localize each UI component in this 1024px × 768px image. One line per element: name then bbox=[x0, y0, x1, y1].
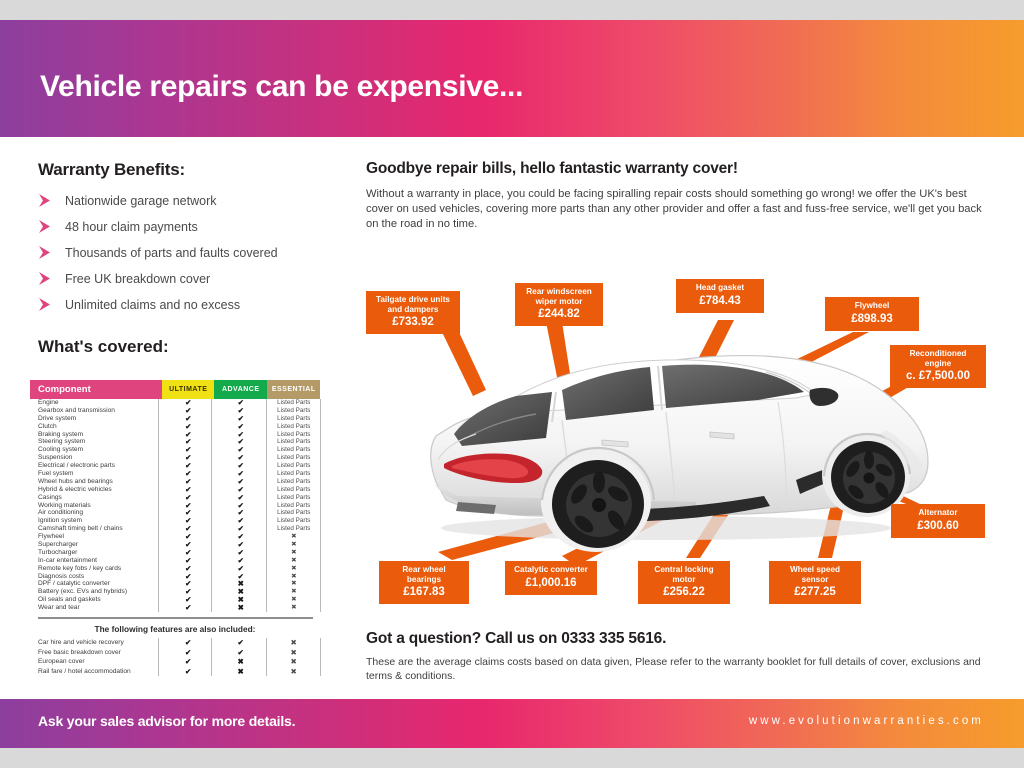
table-row: Steering system✔✔Listed Parts bbox=[30, 438, 320, 446]
table-header-row: Component ULTIMATE ADVANCE ESSENTIAL bbox=[30, 380, 320, 399]
component-name: Ignition system bbox=[30, 517, 162, 525]
coverage-cell-ultimate: ✔ bbox=[162, 604, 214, 612]
table-row: Turbocharger✔✔✖ bbox=[30, 549, 320, 557]
coverage-cell-essential: Listed Parts bbox=[267, 415, 320, 423]
table-row: Suspension✔✔Listed Parts bbox=[30, 454, 320, 462]
page-title: Vehicle repairs can be expensive... bbox=[40, 70, 523, 104]
table-row: Fuel system✔✔Listed Parts bbox=[30, 470, 320, 478]
component-name: Diagnosis costs bbox=[30, 573, 162, 581]
table-row: Diagnosis costs✔✔✖ bbox=[30, 573, 320, 581]
coverage-cell-essential: Listed Parts bbox=[267, 399, 320, 407]
coverage-cell-ultimate: ✔ bbox=[162, 638, 214, 648]
coverage-cell-advance: ✔ bbox=[214, 648, 267, 658]
table-row: Air conditioning✔✔Listed Parts bbox=[30, 509, 320, 517]
table-row: Working materials✔✔Listed Parts bbox=[30, 502, 320, 510]
component-name: Supercharger bbox=[30, 541, 162, 549]
table-row: Cooling system✔✔Listed Parts bbox=[30, 446, 320, 454]
column-header-advance: ADVANCE bbox=[214, 380, 267, 399]
left-column: Warranty Benefits: Nationwide garage net… bbox=[38, 160, 338, 357]
table-row: Car hire and vehicle recovery✔✔✖ bbox=[30, 638, 320, 648]
chevron-right-icon bbox=[38, 298, 55, 311]
table-row: Camshaft timing belt / chains✔✔Listed Pa… bbox=[30, 525, 320, 533]
callout-head-gasket: Head gasket £784.43 bbox=[676, 279, 764, 313]
callout-reconditioned-engine: Reconditioned engine c. £7,500.00 bbox=[890, 345, 986, 388]
component-name: Flywheel bbox=[30, 533, 162, 541]
coverage-cell-essential: Listed Parts bbox=[267, 423, 320, 431]
table-row: Remote key fobs / key cards✔✔✖ bbox=[30, 565, 320, 573]
table-row: Wheel hubs and bearings✔✔Listed Parts bbox=[30, 478, 320, 486]
contact-section: Got a question? Call us on 0333 335 5616… bbox=[366, 630, 1006, 683]
coverage-cell-essential: ✖ bbox=[267, 533, 320, 541]
callout-catalytic-converter: Catalytic converter £1,000.16 bbox=[505, 561, 597, 595]
column-header-ultimate: ULTIMATE bbox=[162, 380, 214, 399]
benefit-label: 48 hour claim payments bbox=[65, 220, 198, 234]
footer-cta: Ask your sales advisor for more details. bbox=[38, 713, 295, 729]
component-name: Camshaft timing belt / chains bbox=[30, 525, 162, 533]
coverage-cell-advance: ✖ bbox=[214, 604, 267, 612]
contact-heading: Got a question? Call us on 0333 335 5616… bbox=[366, 630, 1006, 648]
table-row: Battery (exc. EVs and hybrids)✔✖✖ bbox=[30, 588, 320, 596]
coverage-cell-essential: ✖ bbox=[267, 588, 320, 596]
callout-central-locking: Central locking motor £256.22 bbox=[638, 561, 730, 604]
coverage-cell-advance: ✔ bbox=[214, 638, 267, 648]
component-name: Rail fare / hotel accommodation bbox=[30, 667, 162, 677]
table-row: Braking system✔✔Listed Parts bbox=[30, 431, 320, 439]
component-name: Remote key fobs / key cards bbox=[30, 565, 162, 573]
coverage-cell-essential: ✖ bbox=[267, 549, 320, 557]
chevron-right-icon bbox=[38, 220, 55, 233]
list-item: Unlimited claims and no excess bbox=[38, 296, 338, 313]
coverage-cell-essential: ✖ bbox=[267, 541, 320, 549]
intro-heading: Goodbye repair bills, hello fantastic wa… bbox=[366, 160, 996, 178]
component-name: DPF / catalytic converter bbox=[30, 580, 162, 588]
table-row: European cover✔✖✖ bbox=[30, 657, 320, 667]
coverage-cell-essential: Listed Parts bbox=[267, 446, 320, 454]
table-row: Oil seals and gaskets✔✖✖ bbox=[30, 596, 320, 604]
footer-banner: Ask your sales advisor for more details.… bbox=[0, 699, 1024, 748]
header-banner: Vehicle repairs can be expensive... bbox=[0, 20, 1024, 137]
coverage-cell-essential: ✖ bbox=[267, 604, 320, 612]
table-row: Ignition system✔✔Listed Parts bbox=[30, 517, 320, 525]
coverage-cell-advance: ✖ bbox=[214, 667, 267, 677]
intro-body: Without a warranty in place, you could b… bbox=[366, 187, 996, 232]
list-item: 48 hour claim payments bbox=[38, 218, 338, 235]
component-name: Free basic breakdown cover bbox=[30, 648, 162, 658]
callout-alternator: Alternator £300.60 bbox=[891, 504, 985, 538]
warranty-benefits-heading: Warranty Benefits: bbox=[38, 160, 338, 180]
coverage-cell-essential: Listed Parts bbox=[267, 517, 320, 525]
component-name: Steering system bbox=[30, 438, 162, 446]
coverage-cell-essential: Listed Parts bbox=[267, 486, 320, 494]
list-item: Thousands of parts and faults covered bbox=[38, 244, 338, 261]
warranty-benefits-list: Nationwide garage network 48 hour claim … bbox=[38, 192, 338, 313]
component-name: Air conditioning bbox=[30, 509, 162, 517]
benefit-label: Unlimited claims and no excess bbox=[65, 298, 240, 312]
coverage-cell-essential: Listed Parts bbox=[267, 525, 320, 533]
whats-covered-heading: What's covered: bbox=[38, 337, 338, 357]
component-name: Braking system bbox=[30, 431, 162, 439]
coverage-cell-advance: ✖ bbox=[214, 657, 267, 667]
coverage-cell-essential: Listed Parts bbox=[267, 431, 320, 439]
list-item: Free UK breakdown cover bbox=[38, 270, 338, 287]
component-name: Clutch bbox=[30, 423, 162, 431]
component-name: Gearbox and transmission bbox=[30, 407, 162, 415]
coverage-cell-essential: ✖ bbox=[267, 565, 320, 573]
car-body bbox=[431, 356, 928, 552]
component-name: Oil seals and gaskets bbox=[30, 596, 162, 604]
coverage-cell-essential: ✖ bbox=[267, 648, 320, 658]
callout-tailgate: Tailgate drive units and dampers £733.92 bbox=[366, 291, 460, 334]
extras-heading: The following features are also included… bbox=[30, 624, 320, 634]
extras-table-body: Car hire and vehicle recovery✔✔✖Free bas… bbox=[30, 638, 320, 676]
intro-section: Goodbye repair bills, hello fantastic wa… bbox=[366, 160, 996, 232]
coverage-cell-essential: ✖ bbox=[267, 596, 320, 604]
coverage-cell-essential: ✖ bbox=[267, 657, 320, 667]
callout-rear-wheel-bearings: Rear wheel bearings £167.83 bbox=[379, 561, 469, 604]
callout-flywheel: Flywheel £898.93 bbox=[825, 297, 919, 331]
chevron-right-icon bbox=[38, 194, 55, 207]
coverage-cell-essential: Listed Parts bbox=[267, 462, 320, 470]
coverage-cell-essential: Listed Parts bbox=[267, 494, 320, 502]
table-row: Engine✔✔Listed Parts bbox=[30, 399, 320, 407]
component-name: Wear and tear bbox=[30, 604, 162, 612]
table-row: Drive system✔✔Listed Parts bbox=[30, 415, 320, 423]
coverage-cell-essential: Listed Parts bbox=[267, 470, 320, 478]
component-name: Working materials bbox=[30, 502, 162, 510]
coverage-cell-essential: Listed Parts bbox=[267, 502, 320, 510]
component-name: Electrical / electronic parts bbox=[30, 462, 162, 470]
coverage-cell-ultimate: ✔ bbox=[162, 667, 214, 677]
table-divider bbox=[30, 617, 320, 619]
table-row: DPF / catalytic converter✔✖✖ bbox=[30, 580, 320, 588]
coverage-cell-essential: ✖ bbox=[267, 638, 320, 648]
table-row: Hybrid & electric vehicles✔✔Listed Parts bbox=[30, 486, 320, 494]
footer-website[interactable]: www.evolutionwarranties.com bbox=[749, 715, 984, 727]
coverage-cell-ultimate: ✔ bbox=[162, 657, 214, 667]
component-name: Engine bbox=[30, 399, 162, 407]
component-name: European cover bbox=[30, 657, 162, 667]
coverage-cell-essential: ✖ bbox=[267, 557, 320, 565]
benefit-label: Free UK breakdown cover bbox=[65, 272, 210, 286]
component-name: Suspension bbox=[30, 454, 162, 462]
component-name: Turbocharger bbox=[30, 549, 162, 557]
list-item: Nationwide garage network bbox=[38, 192, 338, 209]
table-row: Free basic breakdown cover✔✔✖ bbox=[30, 648, 320, 658]
table-row: Flywheel✔✔✖ bbox=[30, 533, 320, 541]
coverage-cell-essential: ✖ bbox=[267, 667, 320, 677]
benefit-label: Nationwide garage network bbox=[65, 194, 216, 208]
coverage-cell-essential: Listed Parts bbox=[267, 407, 320, 415]
table-row: In-car entertainment✔✔✖ bbox=[30, 557, 320, 565]
component-name: Wheel hubs and bearings bbox=[30, 478, 162, 486]
column-header-component: Component bbox=[30, 380, 162, 399]
coverage-cell-essential: Listed Parts bbox=[267, 454, 320, 462]
callout-wheel-speed-sensor: Wheel speed sensor £277.25 bbox=[769, 561, 861, 604]
table-row: Gearbox and transmission✔✔Listed Parts bbox=[30, 407, 320, 415]
table-body: Engine✔✔Listed PartsGearbox and transmis… bbox=[30, 399, 320, 612]
column-header-essential: ESSENTIAL bbox=[267, 380, 320, 399]
table-row: Clutch✔✔Listed Parts bbox=[30, 423, 320, 431]
chevron-right-icon bbox=[38, 272, 55, 285]
component-name: Cooling system bbox=[30, 446, 162, 454]
table-row: Rail fare / hotel accommodation✔✖✖ bbox=[30, 667, 320, 677]
coverage-cell-ultimate: ✔ bbox=[162, 648, 214, 658]
coverage-cell-essential: ✖ bbox=[267, 573, 320, 581]
component-name: Hybrid & electric vehicles bbox=[30, 486, 162, 494]
table-row: Electrical / electronic parts✔✔Listed Pa… bbox=[30, 462, 320, 470]
component-name: Casings bbox=[30, 494, 162, 502]
table-row: Supercharger✔✔✖ bbox=[30, 541, 320, 549]
coverage-cell-essential: Listed Parts bbox=[267, 478, 320, 486]
coverage-cell-essential: Listed Parts bbox=[267, 509, 320, 517]
contact-disclaimer: These are the average claims costs based… bbox=[366, 655, 1006, 683]
chevron-right-icon bbox=[38, 246, 55, 259]
component-name: Battery (exc. EVs and hybrids) bbox=[30, 588, 162, 596]
benefit-label: Thousands of parts and faults covered bbox=[65, 246, 278, 260]
table-row: Casings✔✔Listed Parts bbox=[30, 494, 320, 502]
brochure-page: Vehicle repairs can be expensive... Warr… bbox=[0, 20, 1024, 748]
component-name: In-car entertainment bbox=[30, 557, 162, 565]
table-row: Wear and tear✔✖✖ bbox=[30, 604, 320, 612]
component-name: Drive system bbox=[30, 415, 162, 423]
component-name: Car hire and vehicle recovery bbox=[30, 638, 162, 648]
component-name: Fuel system bbox=[30, 470, 162, 478]
coverage-cell-essential: ✖ bbox=[267, 580, 320, 588]
coverage-cell-essential: Listed Parts bbox=[267, 438, 320, 446]
callout-rear-wiper: Rear windscreen wiper motor £244.82 bbox=[515, 283, 603, 326]
coverage-table: Component ULTIMATE ADVANCE ESSENTIAL Eng… bbox=[30, 380, 320, 676]
